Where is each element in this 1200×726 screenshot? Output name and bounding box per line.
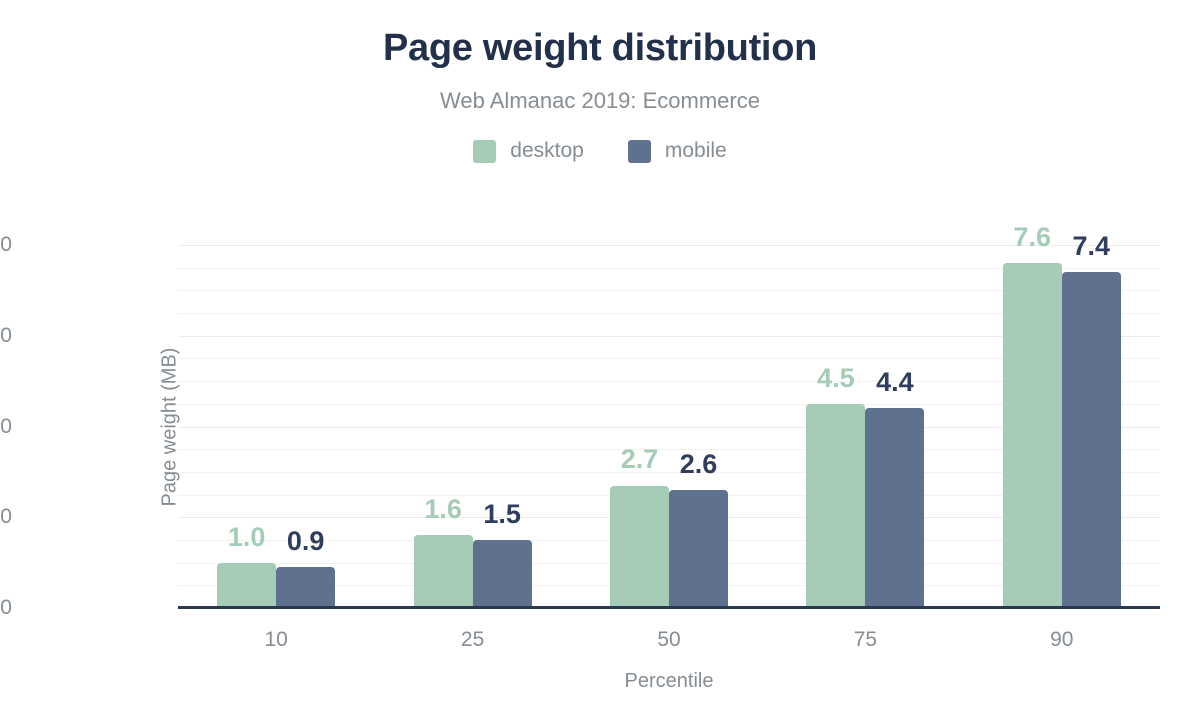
bar-pair — [178, 245, 374, 608]
y-tick-label: 0.0 — [0, 596, 12, 620]
chart-legend: desktopmobile — [0, 139, 1200, 163]
bar-pair — [374, 245, 570, 608]
legend-item-mobile[interactable]: mobile — [628, 139, 727, 163]
bar-mobile-10[interactable] — [276, 567, 335, 608]
bar-desktop-90[interactable] — [1003, 263, 1062, 608]
legend-label-mobile: mobile — [665, 139, 727, 163]
chart-title: Page weight distribution — [0, 28, 1200, 70]
bar-pair — [767, 245, 963, 608]
bar-groups: 1.00.91.61.52.72.64.54.47.67.4 — [178, 245, 1160, 608]
bar-desktop-25[interactable] — [414, 535, 473, 608]
x-tick-label-50: 50 — [569, 628, 769, 652]
legend-item-desktop[interactable]: desktop — [473, 139, 584, 163]
bar-mobile-90[interactable] — [1062, 272, 1121, 608]
plot-area: 1.00.91.61.52.72.64.54.47.67.4 Page weig… — [178, 245, 1160, 608]
bar-mobile-75[interactable] — [865, 408, 924, 608]
bar-desktop-50[interactable] — [610, 486, 669, 609]
bar-pair — [964, 245, 1160, 608]
bar-group-75: 4.54.4 — [767, 245, 963, 608]
bar-group-25: 1.61.5 — [374, 245, 570, 608]
x-tick-label-90: 90 — [962, 628, 1162, 652]
chart-container: Page weight distribution Web Almanac 201… — [0, 0, 1200, 726]
bar-group-10: 1.00.9 — [178, 245, 374, 608]
bar-desktop-75[interactable] — [806, 404, 865, 608]
chart-subtitle: Web Almanac 2019: Ecommerce — [0, 88, 1200, 114]
x-tick-label-25: 25 — [373, 628, 573, 652]
legend-label-desktop: desktop — [510, 139, 584, 163]
x-tick-label-75: 75 — [765, 628, 965, 652]
x-tick-label-10: 10 — [176, 628, 376, 652]
bar-mobile-50[interactable] — [669, 490, 728, 608]
y-tick-label: 2.0 — [0, 505, 12, 529]
bar-pair — [571, 245, 767, 608]
y-tick-label: 4.0 — [0, 415, 12, 439]
y-tick-label: 6.0 — [0, 324, 12, 348]
bar-desktop-10[interactable] — [217, 563, 276, 608]
legend-swatch-desktop — [473, 140, 496, 163]
bar-group-50: 2.72.6 — [571, 245, 767, 608]
x-axis-title: Percentile — [178, 670, 1160, 693]
y-tick-label: 8.0 — [0, 233, 12, 257]
x-axis-baseline — [178, 606, 1160, 609]
bar-mobile-25[interactable] — [473, 540, 532, 608]
bar-group-90: 7.67.4 — [964, 245, 1160, 608]
legend-swatch-mobile — [628, 140, 651, 163]
